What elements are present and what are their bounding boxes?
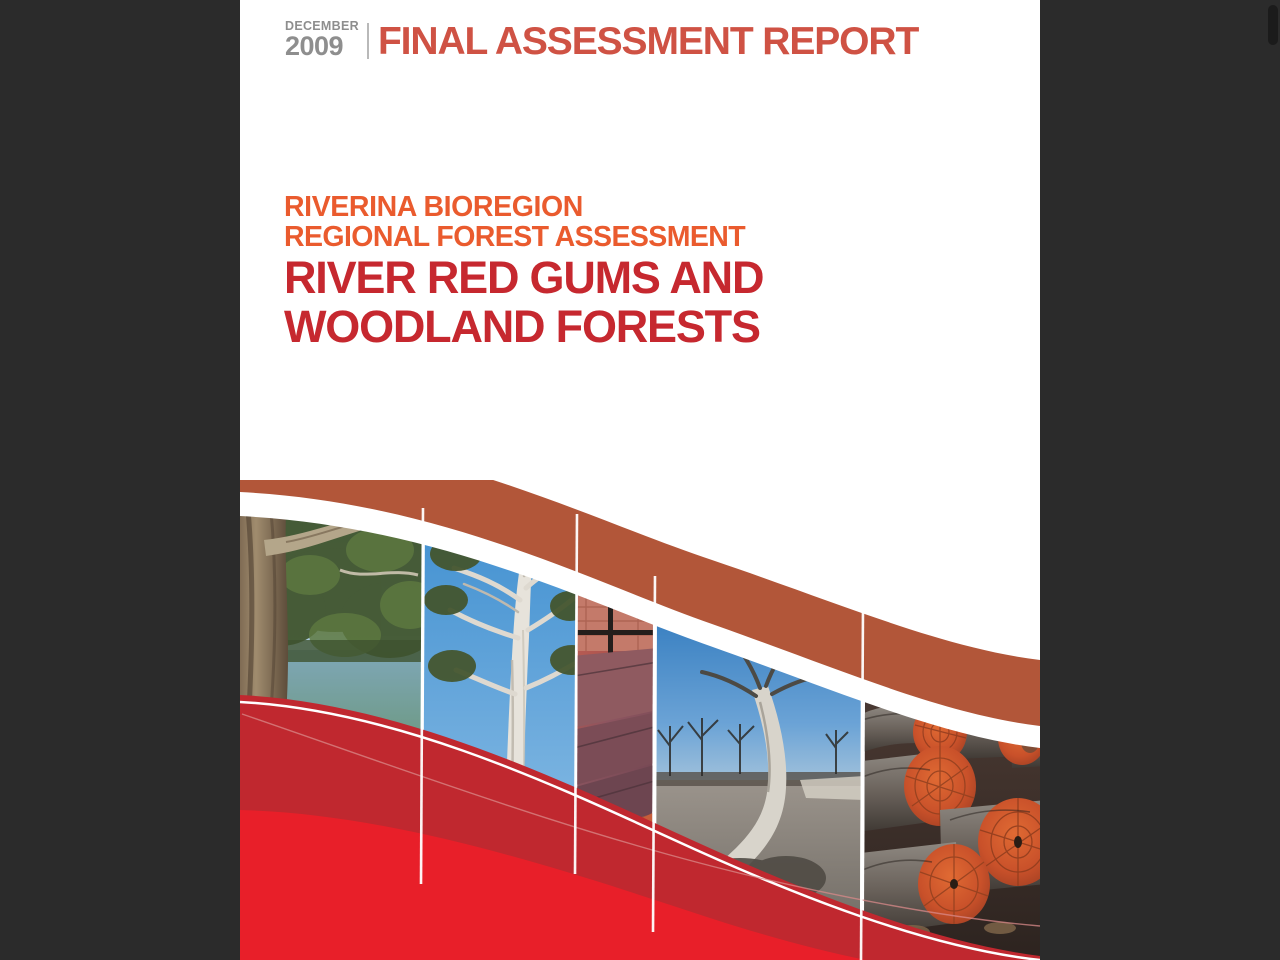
cover-artwork-svg (240, 480, 1040, 960)
vertical-scrollbar[interactable] (1266, 0, 1280, 960)
cover-artwork (240, 480, 1040, 960)
scrollbar-thumb[interactable] (1268, 5, 1278, 45)
publication-year: 2009 (285, 33, 343, 60)
title-main-line-1: RIVER RED GUMS AND (284, 254, 763, 301)
report-kind-label: FINAL ASSESSMENT REPORT (378, 22, 918, 62)
page-title: RIVERINA BIOREGION REGIONAL FOREST ASSES… (284, 192, 763, 350)
publication-date: DECEMBER 2009 (285, 20, 359, 63)
title-main-line-2: WOODLAND FORESTS (284, 303, 763, 350)
report-header: DECEMBER 2009 FINAL ASSESSMENT REPORT (285, 14, 918, 62)
title-eyebrow-line-1: RIVERINA BIOREGION (284, 192, 763, 222)
document-viewer: DECEMBER 2009 FINAL ASSESSMENT REPORT RI… (0, 0, 1280, 960)
document-page: DECEMBER 2009 FINAL ASSESSMENT REPORT RI… (240, 0, 1040, 960)
title-eyebrow-line-2: REGIONAL FOREST ASSESSMENT (284, 222, 763, 252)
header-divider (367, 23, 369, 59)
